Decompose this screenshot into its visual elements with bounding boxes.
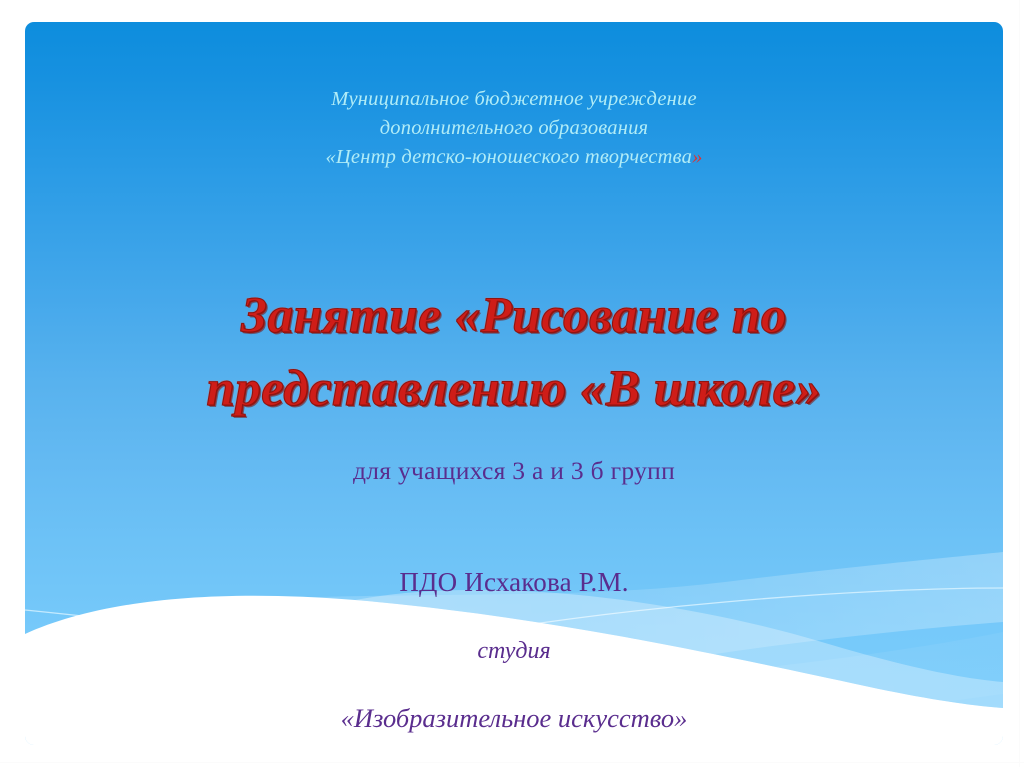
- title-line-2: представлению «В школе»: [25, 353, 1003, 426]
- presentation-page: Муниципальное бюджетное учреждение допол…: [0, 0, 1024, 767]
- footer-studio-label: студия: [25, 638, 1003, 665]
- page-edge-bottom: [0, 762, 1024, 763]
- slide-footer: ПДО Исхакова Р.М. студия «Изобразительно…: [25, 567, 1003, 734]
- title-line-1: Занятие «Рисование по: [25, 280, 1003, 353]
- slide-subtitle: для учащихся 3 а и 3 б групп: [25, 456, 1003, 486]
- slide-canvas: Муниципальное бюджетное учреждение допол…: [25, 22, 1003, 745]
- slide-title: Занятие «Рисование по представлению «В ш…: [25, 280, 1003, 426]
- footer-author: ПДО Исхакова Р.М.: [25, 567, 1003, 598]
- organisation-header: Муниципальное бюджетное учреждение допол…: [25, 85, 1003, 172]
- footer-studio-name: «Изобразительное искусство»: [25, 703, 1003, 734]
- header-line-3: «Центр детско-юношеского творчества»: [25, 143, 1003, 172]
- page-edge-right: [1019, 0, 1020, 767]
- header-line-2: дополнительного образования: [25, 114, 1003, 143]
- header-line-1: Муниципальное бюджетное учреждение: [25, 85, 1003, 114]
- header-closing-guillemet: »: [692, 146, 702, 168]
- header-line-3-text: «Центр детско-юношеского творчества: [325, 146, 692, 168]
